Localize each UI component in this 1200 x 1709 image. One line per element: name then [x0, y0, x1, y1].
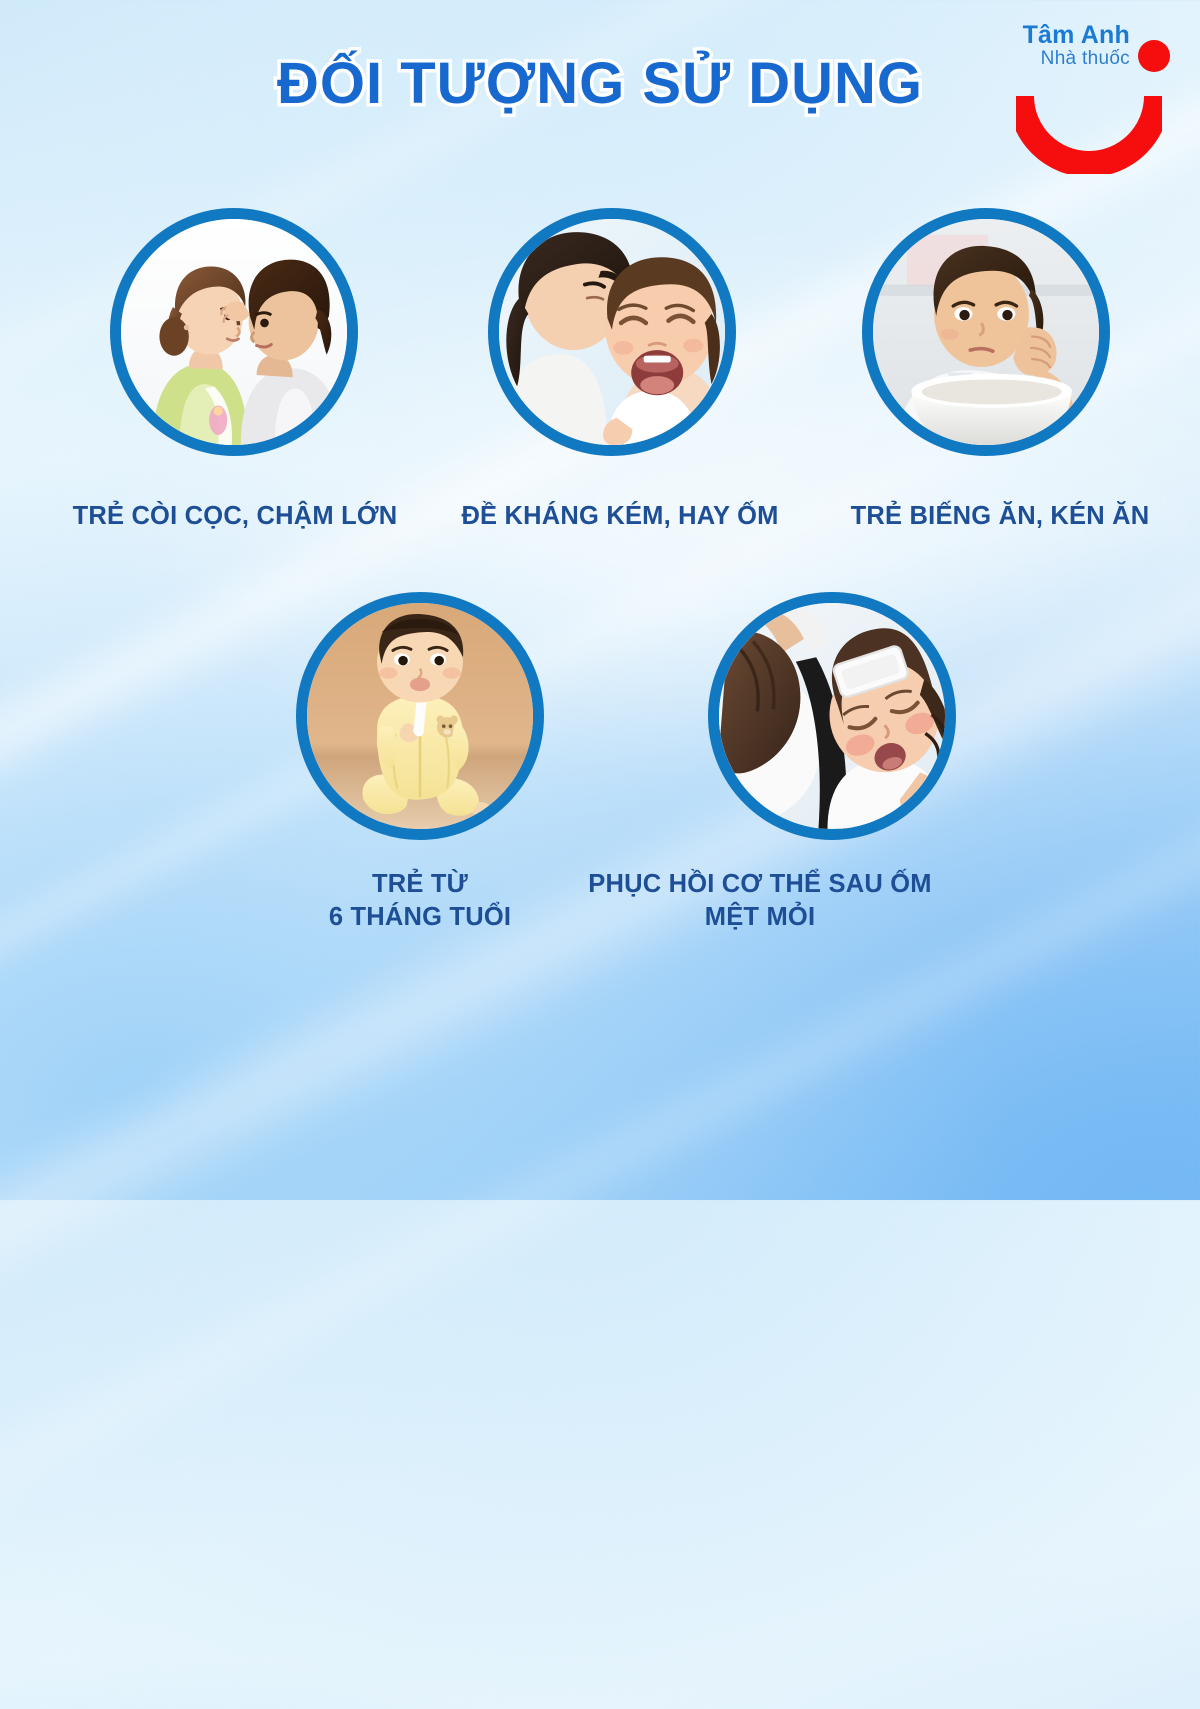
photo-circle-two-children: [110, 208, 358, 456]
logo-subtitle: Nhà thuốc: [998, 48, 1130, 71]
two-children-comparing-height-photo: [121, 219, 347, 445]
photo-circle-crying-baby: [488, 208, 736, 456]
infographic-page: ĐỐI TƯỢNG SỬ DỤNG Tâm Anh Nhà thuốc: [0, 0, 1200, 1200]
sick-child-with-fever-patch-photo: [719, 603, 945, 829]
light-streak: [0, 502, 1200, 1708]
caption-item-5: PHỤC HỒI CƠ THỂ SAU ỐM MỆT MỎI: [580, 868, 940, 934]
caption-item-4: TRẺ TỪ 6 THÁNG TUỔI: [250, 868, 590, 934]
red-dot-icon: [1138, 40, 1170, 72]
mother-holding-crying-baby-photo: [499, 219, 725, 445]
red-smile-arc-icon: [1016, 96, 1162, 174]
caption-item-3: TRẺ BIẾNG ĂN, KÉN ĂN: [800, 500, 1200, 533]
baby-in-yellow-pajamas-sitting-photo: [307, 603, 533, 829]
bored-boy-with-bowl-photo: [873, 219, 1099, 445]
logo-brand-name: Tâm Anh: [998, 22, 1130, 48]
light-streak: [0, 0, 1200, 1161]
photo-circle-sick-child: [708, 592, 956, 840]
photo-circle-picky-eater: [862, 208, 1110, 456]
caption-item-1: TRẺ CÒI CỌC, CHẬM LỚN: [20, 500, 450, 533]
brand-logo: Tâm Anh Nhà thuốc: [998, 18, 1178, 168]
photo-circle-baby-six-months: [296, 592, 544, 840]
caption-item-2: ĐỀ KHÁNG KÉM, HAY ỐM: [420, 500, 820, 533]
logo-text-block: Tâm Anh Nhà thuốc: [998, 22, 1130, 71]
